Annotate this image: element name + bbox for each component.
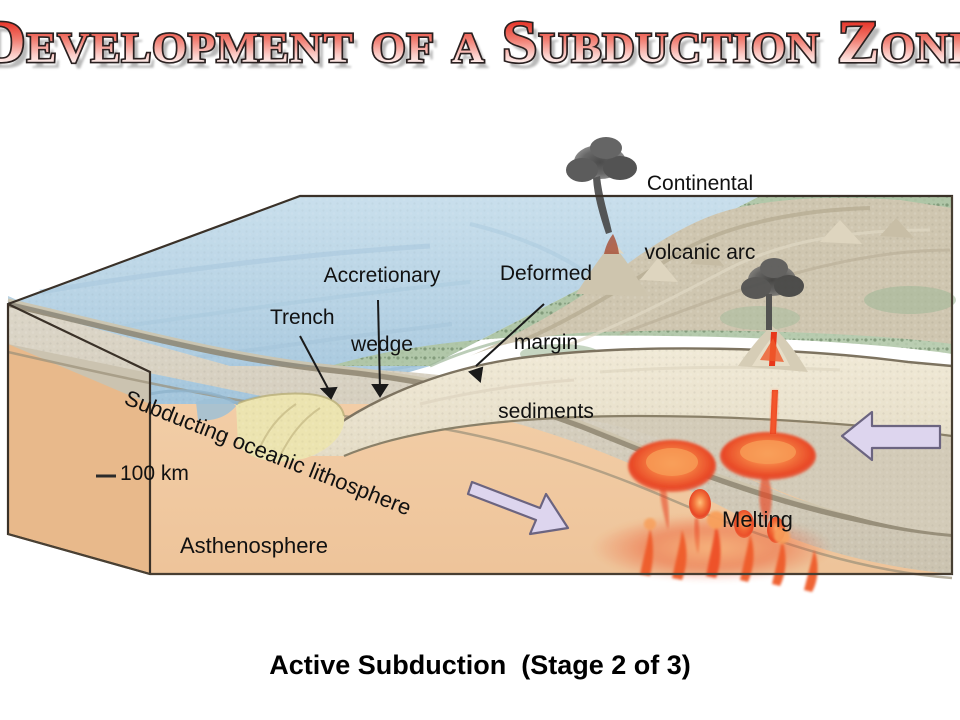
label-asthenosphere: Asthenosphere [180, 534, 328, 557]
diagram-page: Development of a Subduction Zone Develop… [0, 0, 960, 720]
page-title-fill: Development of a Subduction Zone [0, 8, 960, 77]
label-depth-100km: 100 km [120, 462, 189, 485]
page-title: Development of a Subduction Zone Develop… [0, 8, 960, 100]
label-melting: Melting [722, 508, 793, 531]
figure-caption: Active Subduction (Stage 2 of 3) [0, 650, 960, 681]
label-continental-volcanic-arc: Continental volcanic arc [600, 126, 800, 310]
label-deformed-margin-sediments: Deformed margin sediments [466, 216, 626, 469]
label-trench: Trench [270, 306, 335, 329]
subduction-zone-diagram: Continental volcanic arc Accretionary we… [0, 104, 960, 644]
